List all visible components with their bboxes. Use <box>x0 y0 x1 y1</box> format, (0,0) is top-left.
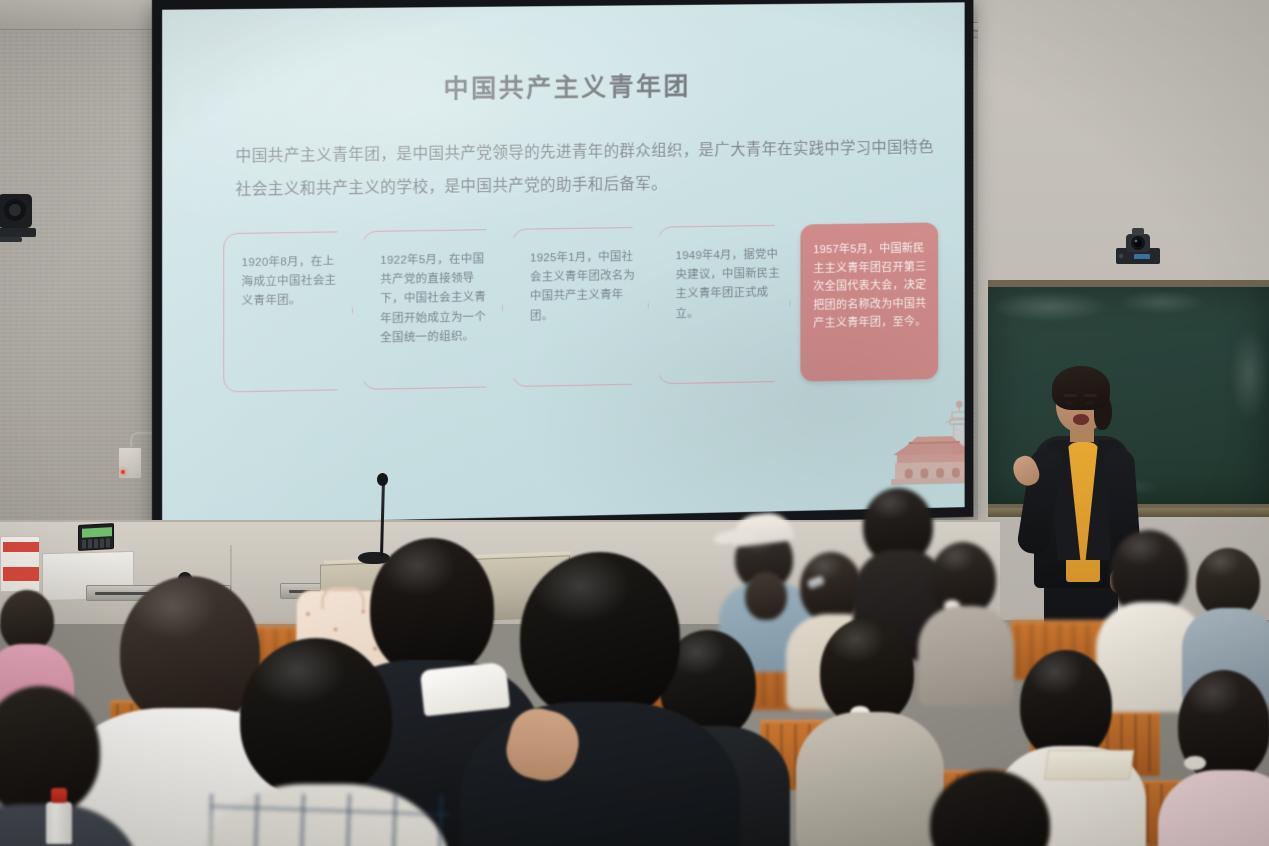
hair-tie <box>1184 756 1206 770</box>
slide-content: 中国共产主义青年团 中国共产主义青年团，是中国共产党领导的先进青年的群众组织，是… <box>162 2 964 525</box>
timeline-box-1: 1920年8月，在上海成立中国社会主义青年团。 <box>223 231 353 392</box>
ptz-camera-icon <box>1112 228 1164 270</box>
teacher-brow-left <box>1064 394 1077 397</box>
slide-body-paragraph: 中国共产主义青年团，是中国共产党领导的先进青年的群众组织，是广大青年在实践中学习… <box>235 131 934 206</box>
student-head <box>240 638 392 798</box>
timeline-box-2-text: 1922年5月，在中国共产党的直接领导下，中国社会主义青年团开始成立为一个全国统… <box>380 253 486 344</box>
timeline-box-3: 1925年1月，中国社会主义青年团改名为中国共产主义青年团。 <box>512 227 649 387</box>
student-torso <box>460 702 740 846</box>
student-head <box>745 572 787 620</box>
timeline-box-1-text: 1920年8月，在上海成立中国社会主义青年团。 <box>242 256 337 308</box>
teacher-eye-right <box>1085 401 1094 405</box>
student-torso <box>796 712 944 846</box>
screen-surface: 中国共产主义青年团 中国共产主义青年团，是中国共产党领导的先进青年的群众组织，是… <box>162 2 964 525</box>
plaid-shirt-pattern <box>210 794 450 846</box>
water-bottle <box>46 788 72 844</box>
student-torso <box>918 606 1014 706</box>
student-collar <box>420 662 510 717</box>
timeline-box-2: 1922年5月，在中国共产党的直接领导下，中国社会主义青年团开始成立为一个全国统… <box>362 229 503 390</box>
timeline-box-4-text: 1949年4月，据党中央建议，中国新民主主义青年团正式成立。 <box>676 249 780 320</box>
student-head <box>0 590 54 652</box>
teacher-brow-right <box>1084 394 1097 397</box>
projection-screen: 中国共产主义青年团 中国共产主义青年团，是中国共产党领导的先进青年的群众组织，是… <box>152 0 973 535</box>
timeline-flow: 1920年8月，在上海成立中国社会主义青年团。 1922年5月，在中国共产党的直… <box>223 222 961 405</box>
backpack-handle <box>321 587 365 609</box>
timeline-box-4: 1949年4月，据党中央建议，中国新民主主义青年团正式成立。 <box>658 225 791 385</box>
timeline-box-5-text: 1957年5月，中国新民主主义青年团召开第三次全国代表大会，决定把团的名称改为中… <box>813 242 926 330</box>
timeline-box-5-highlighted: 1957年5月，中国新民主主义青年团召开第三次全国代表大会，决定把团的名称改为中… <box>800 222 938 381</box>
slide-title: 中国共产主义青年团 <box>162 64 964 109</box>
wall-speaker-icon <box>0 190 40 252</box>
student-head <box>370 538 494 678</box>
student-head <box>120 576 260 728</box>
bottle-cap <box>51 788 67 803</box>
open-notebook <box>1044 750 1134 780</box>
teacher-hair <box>1052 366 1110 410</box>
timeline-box-3-text: 1925年1月，中国社会主义青年团改名为中国共产主义青年团。 <box>530 251 635 322</box>
student-head <box>1020 650 1112 760</box>
bottle-body <box>46 802 72 844</box>
teacher-mouth-speaking <box>1073 414 1089 425</box>
student-head <box>520 552 680 722</box>
student-head <box>930 542 996 616</box>
audience-area <box>0 470 1269 846</box>
teacher-eye-left <box>1065 401 1074 405</box>
classroom-scene: 中国共产主义青年团 中国共产主义青年团，是中国共产党领导的先进青年的群众组织，是… <box>0 0 1269 846</box>
